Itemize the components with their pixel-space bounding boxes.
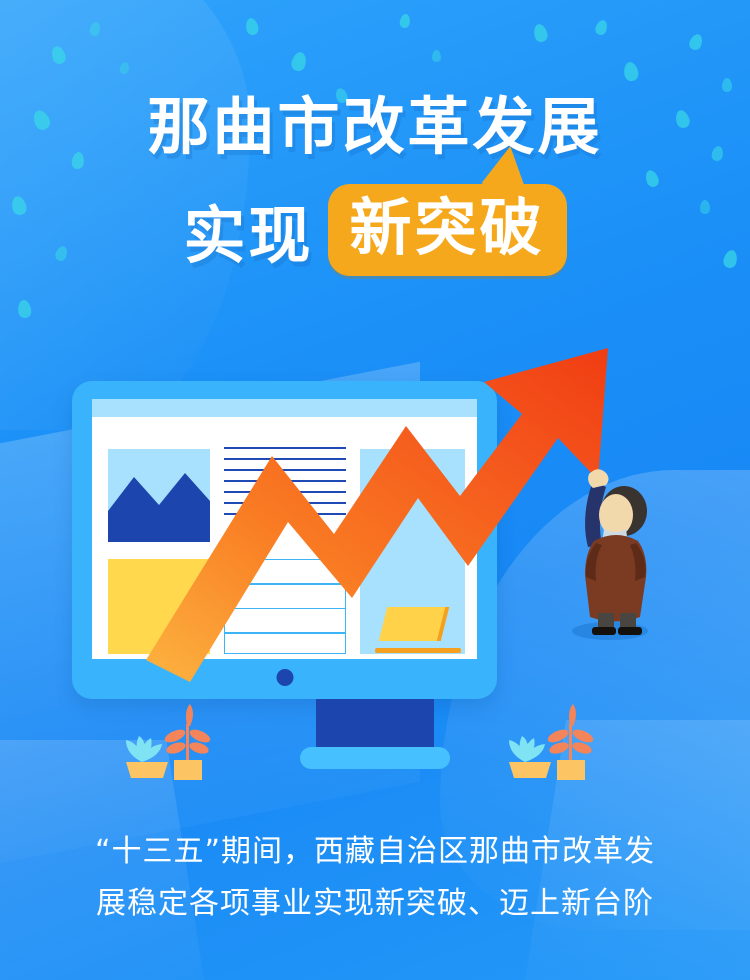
- monitor-stand-neck: [316, 699, 434, 753]
- person-icon: [548, 455, 668, 640]
- raised-fist: [588, 469, 608, 488]
- plants-icon-left: [112, 700, 232, 790]
- potted-plants-right: [495, 700, 615, 790]
- droplet-icon: [594, 19, 609, 37]
- droplet-icon: [687, 32, 704, 51]
- infographic-poster: 那曲市改革发展 实现 新突破: [0, 0, 750, 980]
- monitor-stand-base: [300, 747, 450, 769]
- shoe-left: [592, 627, 616, 635]
- title-line-1: 那曲市改革发展: [0, 96, 750, 158]
- leafy-plant: [163, 704, 212, 780]
- caption-line-2: 展稳定各项事业实现新突破、迈上新台阶: [0, 878, 750, 930]
- poster-heading: 那曲市改革发展 实现 新突破: [0, 96, 750, 284]
- droplet-icon: [532, 23, 549, 44]
- droplet-icon: [244, 17, 259, 36]
- caption-block: “十三五”期间，西藏自治区那曲市改革发 展稳定各项事业实现新突破、迈上新台阶: [0, 826, 750, 930]
- fan-plant: [509, 736, 551, 778]
- shoe-right: [618, 627, 642, 635]
- caption-line-1: “十三五”期间，西藏自治区那曲市改革发: [0, 826, 750, 878]
- potted-plants-left: [112, 700, 232, 790]
- leafy-plant: [546, 704, 595, 780]
- droplet-icon: [290, 51, 308, 73]
- highlight-badge: 新突破: [328, 184, 567, 275]
- tibetan-person-cheering: [548, 455, 668, 640]
- title-line-2-plain: 实现: [183, 185, 313, 275]
- droplet-icon: [622, 61, 639, 82]
- title-line-2-row: 实现 新突破: [0, 176, 750, 284]
- fan-plant: [126, 736, 168, 778]
- droplet-icon: [722, 78, 732, 92]
- plants-icon-right: [495, 700, 615, 790]
- droplet-icon: [399, 13, 411, 29]
- badge-label: 新突破: [350, 191, 545, 264]
- droplet-icon: [432, 50, 441, 62]
